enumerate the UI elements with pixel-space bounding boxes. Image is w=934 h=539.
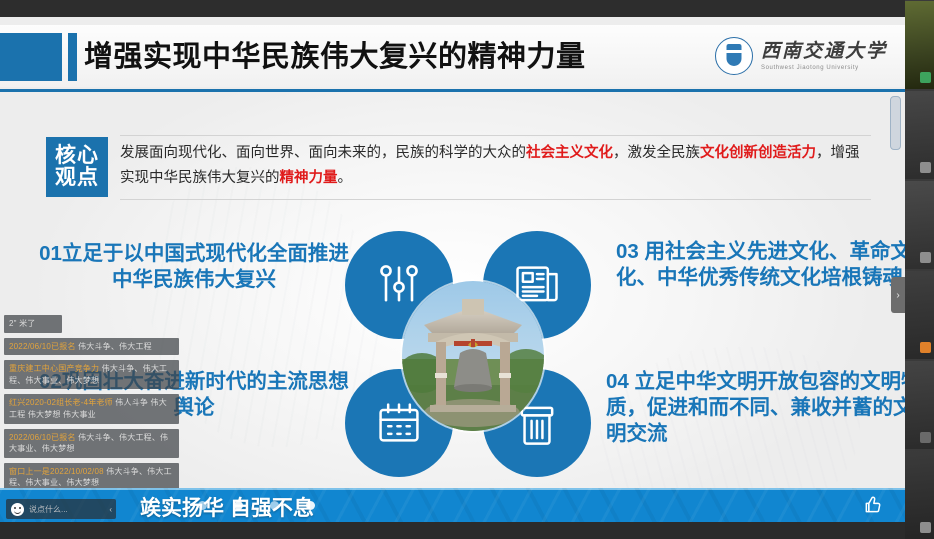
top-dark-strip bbox=[0, 0, 905, 17]
participant-thumbnail[interactable] bbox=[905, 271, 934, 359]
page-title: 增强实现中华民族伟大复兴的精神力量 bbox=[84, 37, 586, 77]
header-accent-block bbox=[0, 33, 62, 81]
pagination-dot[interactable] bbox=[234, 501, 243, 510]
point-03-text: 03 用社会主义先进文化、革命文化、中华优秀传统文化培根铸魂 bbox=[616, 239, 905, 291]
chat-input-box[interactable]: 说点什么... ‹ bbox=[6, 499, 116, 519]
chat-message-author: 2022/06/10已报名 bbox=[9, 433, 78, 442]
chat-message: 2022/06/10已报名 伟大斗争、伟大工程、伟大事业、伟大梦想 bbox=[4, 429, 179, 458]
chat-message-body: 伟大斗争、伟大工程 bbox=[78, 342, 152, 351]
participant-status-pip bbox=[920, 252, 931, 263]
participant-status-pip bbox=[920, 72, 931, 83]
core-divider-bottom bbox=[120, 199, 871, 200]
participant-status-pip bbox=[920, 522, 931, 533]
center-icon-cluster bbox=[345, 231, 595, 481]
point-04-text: 04 立足中华文明开放包容的文明特质，促进和而不同、兼收并蓄的文明交流 bbox=[606, 369, 905, 448]
participant-thumbnail[interactable] bbox=[905, 181, 934, 269]
core-plain-2: ，激发全民族 bbox=[613, 145, 700, 161]
core-highlight-5: 精神力量 bbox=[280, 170, 338, 186]
core-highlight-1: 社会主义文化 bbox=[526, 145, 613, 161]
chat-message-body: 2" 米了 bbox=[9, 319, 36, 328]
stone-bell-pavilion-photo bbox=[402, 281, 544, 431]
participant-thumbnail[interactable] bbox=[905, 451, 934, 539]
bottom-bar-texture bbox=[0, 488, 905, 522]
chat-message-author: 重庆建工中心国产竞争力 bbox=[9, 364, 102, 373]
participant-thumbnail[interactable] bbox=[905, 1, 934, 89]
point-01-text: 01立足于以中国式现代化全面推进中华民族伟大复兴 bbox=[34, 241, 354, 293]
chat-message-author: 2022/06/10已报名 bbox=[9, 342, 78, 351]
header-accent-bar bbox=[68, 33, 77, 81]
sliders-icon bbox=[373, 259, 425, 311]
participant-thumbnail[interactable] bbox=[905, 91, 934, 179]
chat-message-author: 红兴2020-02组长老-4年老师 bbox=[9, 398, 115, 407]
chat-message: 红兴2020-02组长老-4年老师 伟人斗争 伟大工程 伟大梦想 伟大事业 bbox=[4, 394, 179, 423]
vertical-scrollbar[interactable] bbox=[890, 96, 901, 150]
university-logo: 西南交通大学 Southwest Jiaotong University bbox=[715, 37, 887, 75]
participant-thumbnail[interactable] bbox=[905, 361, 934, 449]
core-highlight-3: 文化创新创造活力 bbox=[700, 145, 816, 161]
core-viewpoint-text: 发展面向现代化、面向世界、面向未来的，民族的科学的大众的社会主义文化，激发全民族… bbox=[120, 141, 871, 191]
university-logo-text: 西南交通大学 Southwest Jiaotong University bbox=[761, 42, 887, 71]
center-photo bbox=[402, 281, 544, 431]
participant-status-pip bbox=[920, 432, 931, 443]
university-seal-icon bbox=[715, 37, 753, 75]
chat-message: 2022/06/10已报名 伟大斗争、伟大工程 bbox=[4, 338, 179, 356]
chat-message: 2" 米了 bbox=[4, 315, 62, 333]
slide-stage: 增强实现中华民族伟大复兴的精神力量 西南交通大学 Southwest Jiaot… bbox=[0, 17, 905, 522]
core-badge-line2: 观点 bbox=[55, 167, 99, 189]
bottom-action-bar: 竢实扬华 自强不息 说点什么... ‹ bbox=[0, 488, 905, 522]
core-plain-0: 发展面向现代化、面向世界、面向未来的，民族的科学的大众的 bbox=[120, 145, 526, 161]
pagination-dot[interactable] bbox=[306, 501, 315, 510]
slide-header: 增强实现中华民族伟大复兴的精神力量 西南交通大学 Southwest Jiaot… bbox=[0, 25, 905, 87]
participant-status-pip bbox=[920, 342, 931, 353]
chat-message: 重庆建工中心国产竞争力 伟大斗争、伟大工程、伟大事业、伟大梦想 bbox=[4, 360, 179, 389]
chat-message-list: 2" 米了2022/06/10已报名 伟大斗争、伟大工程重庆建工中心国产竞争力 … bbox=[4, 310, 179, 492]
core-badge-line1: 核心 bbox=[55, 145, 99, 167]
emoji-icon[interactable] bbox=[11, 503, 24, 516]
panel-collapse-button[interactable]: › bbox=[891, 277, 905, 313]
pagination-dot[interactable] bbox=[270, 501, 279, 510]
participant-status-pip bbox=[920, 162, 931, 173]
screen-root: 增强实现中华民族伟大复兴的精神力量 西南交通大学 Southwest Jiaot… bbox=[0, 0, 934, 539]
core-divider-top bbox=[120, 135, 871, 136]
calendar-icon bbox=[373, 397, 425, 449]
pagination-dot[interactable] bbox=[198, 501, 207, 510]
header-underline bbox=[0, 89, 905, 92]
chat-message-author: 窗口上一是2022/10/02/08 bbox=[9, 467, 106, 476]
pagination-dots[interactable] bbox=[198, 501, 315, 510]
thumbs-up-icon[interactable] bbox=[863, 495, 883, 515]
core-plain-6: 。 bbox=[338, 170, 353, 186]
participant-rail[interactable] bbox=[905, 0, 934, 539]
university-name-en: Southwest Jiaotong University bbox=[761, 65, 887, 71]
core-viewpoint-badge: 核心 观点 bbox=[46, 137, 108, 197]
chat-collapse-arrow-icon[interactable]: ‹ bbox=[109, 505, 112, 514]
chat-input-placeholder: 说点什么... bbox=[29, 504, 68, 515]
university-name-cn: 西南交通大学 bbox=[761, 42, 887, 61]
